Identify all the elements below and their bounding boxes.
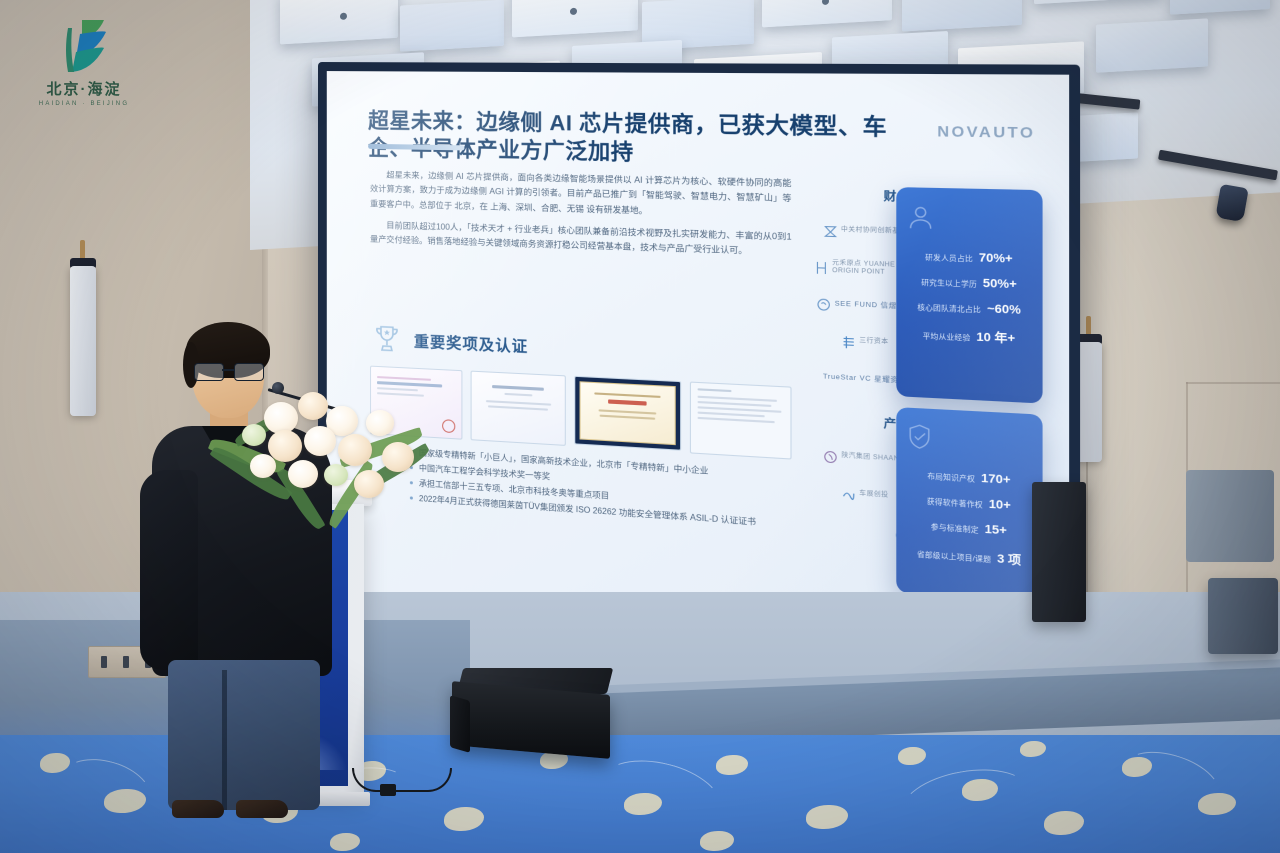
certificate-image-2 [471, 371, 566, 446]
investor-name: TrueStar VC 星耀资本 [823, 373, 907, 386]
stat-row: 研发人员占比 70%+ [906, 249, 1033, 266]
ip-stats-panel: 布局知识产权 170+ 获得软件著作权 10+ 参与标准制定 15+ 省部级以上… [896, 407, 1042, 604]
stat-value: 10+ [989, 498, 1011, 513]
stat-label: 研究生以上学历 [921, 276, 977, 289]
stat-value: 15+ [985, 523, 1007, 538]
stat-label: 布局知识产权 [927, 470, 975, 484]
stat-row: 布局知识产权 170+ [906, 468, 1033, 489]
stage-speaker-right-rear [1186, 470, 1274, 562]
stat-row: 研究生以上学历 50%+ [906, 275, 1033, 293]
stat-value: 70%+ [979, 252, 1013, 266]
power-cable [352, 768, 452, 792]
awards-header: 重要奖项及认证 [370, 321, 792, 376]
stat-label: 研发人员占比 [925, 251, 973, 263]
shield-check-icon [906, 423, 1033, 462]
investor-mark-icon [823, 224, 838, 238]
stat-row: 参与标准制定 15+ [906, 518, 1033, 540]
stat-label: 平均从业经验 [923, 330, 971, 343]
haidian-logo-text-cn: 北京·海淀 [28, 78, 140, 99]
conference-photo: 北京·海淀 HAIDIAN · BEIJING 超星未来：边缘侧 AI 芯片提供… [0, 0, 1280, 853]
industrial-name: 车展创投 [859, 491, 888, 501]
stat-value: 3 项 [997, 549, 1021, 568]
stage-speaker-right [1208, 578, 1278, 654]
monitor-side [450, 695, 470, 753]
stat-row: 平均从业经验 10 年+ [906, 325, 1033, 348]
investor-mark-icon [817, 297, 832, 312]
slide-body-text: 超星未来，边缘侧 AI 芯片提供商，面向各类边缘智能场景提供以 AI 计算芯片为… [370, 168, 792, 268]
stat-row: 核心团队清北占比 ~60% [906, 300, 1033, 318]
industrial-mark-icon [823, 449, 838, 464]
haidian-brand-logo: 北京·海淀 HAIDIAN · BEIJING [28, 18, 140, 104]
power-plug [380, 784, 396, 796]
stat-label: 参与标准制定 [931, 520, 979, 534]
presenter-leg-seam [222, 670, 227, 810]
paragraph-1: 超星未来，边缘侧 AI 芯片提供商，面向各类边缘智能场景提供以 AI 计算芯片为… [370, 168, 792, 222]
novauto-logo: NOVAUTO [937, 122, 1035, 141]
floor-monitor-speaker [452, 668, 612, 754]
stat-row: 省部级以上项目/课题 3 项 [906, 543, 1033, 570]
stat-label: 核心团队清北占比 [917, 301, 981, 314]
paragraph-2: 目前团队超过100人，「技术天才 + 行业老兵」核心团队兼备前沿技术视野及扎实研… [370, 218, 792, 260]
industrial-mark-icon [841, 487, 856, 502]
certificate-image-3 [574, 376, 681, 451]
haidian-logo-text-en: HAIDIAN · BEIJING [28, 101, 140, 107]
slide-surface: 超星未来：边缘侧 AI 芯片提供商，已获大模型、车企、半导体产业方广泛加持 NO… [327, 71, 1069, 679]
talent-stats-panel: 研发人员占比 70%+ 研究生以上学历 50%+ 核心团队清北占比 ~60% 平… [896, 187, 1042, 403]
presenter-shoe-left [172, 800, 224, 818]
slide-title: 超星未来：边缘侧 AI 芯片提供商，已获大模型、车企、半导体产业方广泛加持 [368, 108, 892, 173]
presenter-legs [168, 660, 320, 810]
presenter-glasses [194, 363, 264, 379]
stat-value: 170+ [981, 472, 1010, 487]
presenter-shoe-right [236, 800, 288, 818]
stat-label: 省部级以上项目/课题 [917, 548, 991, 564]
right-door-header [1186, 382, 1280, 384]
stat-value: 10 年+ [976, 328, 1015, 347]
stat-value: ~60% [987, 303, 1021, 318]
haidian-sail-mark [52, 18, 116, 74]
stat-label: 获得软件著作权 [927, 495, 983, 510]
investor-mark-icon [814, 260, 829, 274]
monitor-face [452, 681, 610, 759]
wall-sconce-left [70, 266, 96, 416]
flower-arrangement [206, 388, 436, 528]
certificate-image-4 [690, 382, 792, 460]
investor-name: 三行资本 [859, 338, 888, 347]
awards-title: 重要奖项及认证 [414, 330, 528, 357]
presenter-arm [140, 470, 198, 670]
tower-speaker-center [1032, 482, 1086, 622]
person-icon [906, 203, 1033, 240]
trophy-icon [370, 321, 404, 357]
stat-value: 50%+ [983, 277, 1017, 291]
stat-row: 获得软件著作权 10+ [906, 493, 1033, 514]
investor-mark-icon [841, 334, 856, 349]
